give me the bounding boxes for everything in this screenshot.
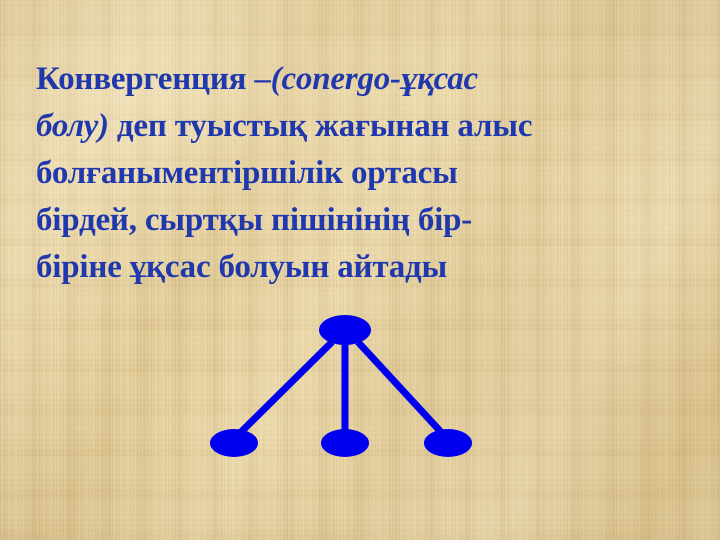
- diagram-connector-root-to-leaf-1: [241, 342, 332, 432]
- diagram-node-leaf-2: [321, 429, 369, 457]
- diagram-edge-group: [241, 342, 441, 432]
- text-line-4: бірдей, сыртқы пішінінің бір-: [36, 197, 684, 244]
- presentation-slide: Конвергенция –(conergo-ұқсас болу) деп т…: [0, 0, 720, 540]
- text-segment-italic: (conergo-ұқсас: [271, 61, 478, 97]
- text-line-5: біріне ұқсас болуын айтады: [36, 244, 684, 291]
- text-line-1: Конвергенция –(conergo-ұқсас: [36, 56, 684, 103]
- text-segment: Конвергенция –: [36, 61, 271, 97]
- diagram-node-leaf-1: [210, 429, 258, 457]
- text-segment: бірдей, сыртқы пішінінің бір-: [36, 202, 472, 238]
- slide-body-text: Конвергенция –(conergo-ұқсас болу) деп т…: [36, 56, 684, 291]
- diagram-node-group: [210, 315, 472, 457]
- diagram-node-root: [319, 315, 371, 345]
- text-line-2: болу) деп туыстық жағынан алыс: [36, 103, 684, 150]
- diagram-connector-root-to-leaf-3: [358, 342, 441, 432]
- text-segment: біріне ұқсас болуын айтады: [36, 249, 447, 285]
- text-segment-italic: болу): [36, 108, 109, 144]
- text-line-3: болғаныментіршілік ортасы: [36, 150, 684, 197]
- text-segment: деп туыстық жағынан алыс: [109, 108, 532, 144]
- text-segment: болғаныментіршілік ортасы: [36, 155, 458, 191]
- diagram-node-leaf-3: [424, 429, 472, 457]
